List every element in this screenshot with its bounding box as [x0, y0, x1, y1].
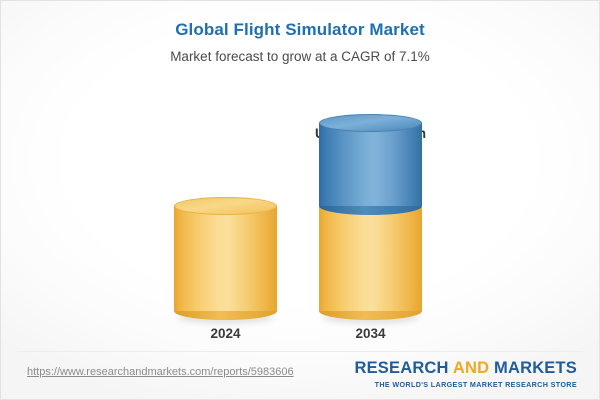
research-and-markets-logo: RESEARCH AND MARKETS THE WORLD'S LARGEST…	[354, 359, 577, 389]
cylinder-segment-growth-2034	[319, 123, 422, 206]
cylinder-top-cap-2024	[174, 197, 277, 215]
bar-group-2034: USD 17.34 Billion 2034	[319, 81, 422, 346]
chart-title: Global Flight Simulator Market	[1, 19, 599, 41]
chart-subtitle: Market forecast to grow at a CAGR of 7.1…	[1, 48, 599, 66]
cylinder-body-growth-2034	[319, 123, 422, 206]
logo-word-research: RESEARCH	[354, 359, 448, 377]
logo-tagline: THE WORLD'S LARGEST MARKET RESEARCH STOR…	[354, 380, 577, 389]
cylinder-body-2024	[174, 206, 277, 311]
logo-wordmark: RESEARCH AND MARKETS	[354, 359, 577, 378]
source-url-link[interactable]: https://www.researchandmarkets.com/repor…	[27, 366, 294, 378]
logo-word-and: AND	[453, 359, 489, 377]
cylinder-body-base-2034	[319, 206, 422, 311]
chart-card: Global Flight Simulator Market Market fo…	[0, 0, 600, 400]
cylinder-2024	[174, 206, 277, 311]
bar-group-2024: USD 8.77 Billion 2024	[174, 81, 277, 346]
chart-footer: https://www.researchandmarkets.com/repor…	[1, 353, 599, 399]
footer-divider	[17, 351, 583, 352]
cylinder-segment-base-2034	[319, 206, 422, 311]
chart-plot-area: USD 8.77 Billion 2024 USD 17.34 Billion	[1, 81, 600, 346]
chart-header: Global Flight Simulator Market Market fo…	[1, 1, 599, 66]
cylinder-top-cap-2034	[319, 114, 422, 132]
logo-word-markets: MARKETS	[494, 359, 577, 377]
category-label-2034: 2034	[271, 326, 471, 341]
